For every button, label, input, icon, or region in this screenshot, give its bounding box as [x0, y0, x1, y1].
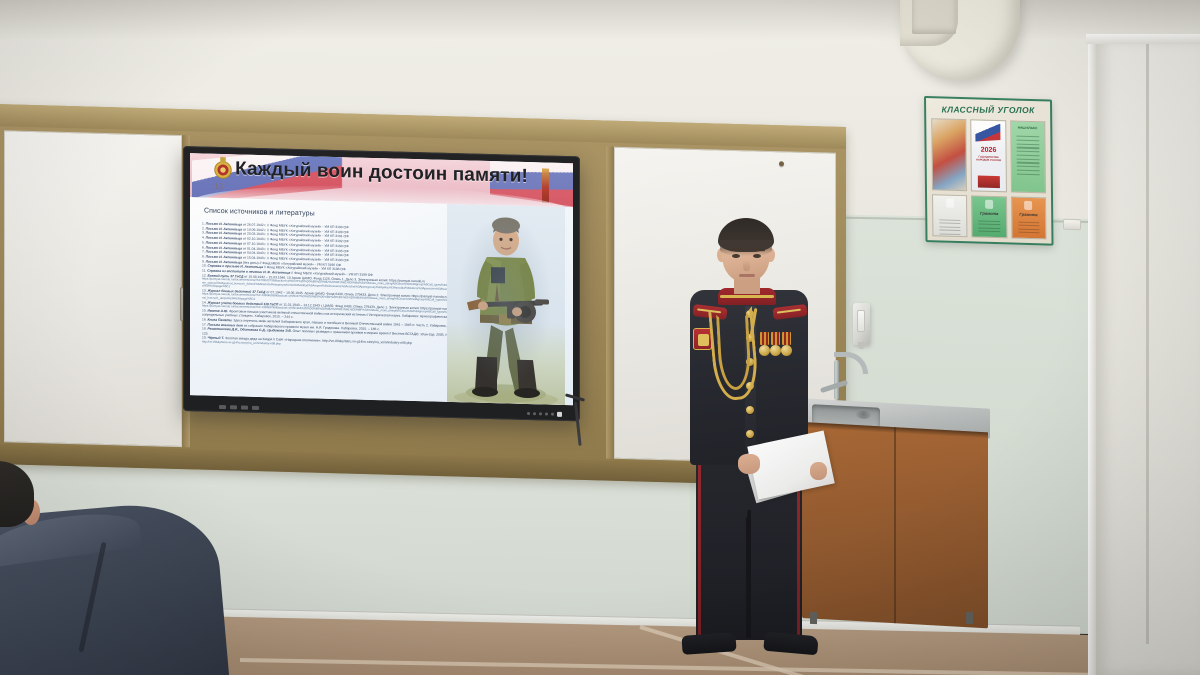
ceiling-shadow — [0, 0, 1200, 40]
poster-base-graphic — [978, 176, 999, 189]
classroom-scene: 13 Каждый воин достоин памяти! Список ис… — [0, 0, 1200, 675]
presenter-shoe — [681, 632, 736, 655]
seal-icon — [985, 200, 993, 209]
medal-cluster — [760, 332, 794, 366]
display-button[interactable] — [241, 406, 248, 410]
door-header — [1086, 34, 1200, 44]
info-card-title: НАШ КЛАСС — [1011, 125, 1044, 130]
corner-board-title: КЛАССНЫЙ УГОЛОК — [926, 104, 1050, 115]
presentation-slide: 13 Каждый воин достоин памяти! Список ис… — [190, 153, 573, 405]
certificate-title: Грамота — [1012, 211, 1045, 217]
display-button[interactable] — [230, 405, 237, 409]
display-button[interactable] — [219, 405, 226, 409]
corner-board-artwork[interactable] — [931, 118, 967, 191]
classroom-corner-board[interactable]: КЛАССНЫЙ УГОЛОК 2026 ГОД ЕДИНСТВА НАРОДО… — [924, 96, 1054, 246]
corner-board-info-card[interactable]: НАШ КЛАСС — [1010, 120, 1046, 193]
trouser-stripe — [698, 460, 701, 636]
soldier-illustration — [447, 204, 565, 405]
illustration-shadow — [455, 222, 555, 395]
cadet-presenter — [660, 210, 840, 675]
sink-drain — [856, 409, 871, 420]
display-indicator — [551, 413, 554, 416]
display-screen[interactable]: 13 Каждый воин достоин памяти! Список ис… — [190, 153, 573, 405]
medal-disc — [781, 345, 792, 356]
flag-graphic-icon — [976, 124, 1001, 142]
ceiling-mount-box — [912, 0, 956, 34]
display-indicator-cluster — [527, 411, 562, 417]
certificate-lines — [939, 219, 961, 237]
whiteboard-panel-left[interactable] — [4, 130, 182, 447]
panel-track-right — [606, 147, 614, 459]
dispenser-window — [857, 310, 865, 332]
tunic-button — [746, 406, 754, 414]
display-indicator — [539, 412, 542, 415]
display-button[interactable] — [252, 406, 259, 410]
medal-ribbon — [782, 332, 791, 345]
poster-subtitle: ГОД ЕДИНСТВА НАРОДОВ РОССИИ — [974, 155, 1003, 163]
display-indicator — [545, 412, 548, 415]
poster-year: 2026 — [972, 146, 1005, 154]
patch-emblem-icon — [698, 334, 709, 346]
presenter-hand-left — [738, 454, 760, 474]
corner-board-certificate-green[interactable]: Грамота — [971, 195, 1007, 238]
power-led-icon — [557, 412, 562, 417]
seal-icon — [1024, 201, 1032, 210]
slide-number: 13 — [214, 182, 223, 191]
collar-trim — [720, 295, 774, 298]
presenter-shoe — [763, 632, 818, 656]
door-jamb — [1088, 40, 1096, 675]
presenter-mouth — [739, 274, 755, 277]
doorway[interactable] — [1088, 40, 1200, 675]
presenter-eye — [753, 254, 761, 258]
seated-attendee — [0, 455, 290, 675]
references-list: 1. Письмо И. Аксентьца от 26.07.1942 г. … — [202, 221, 474, 351]
medal-disc — [770, 345, 781, 356]
corner-board-year-poster[interactable]: 2026 ГОД ЕДИНСТВА НАРОДОВ РОССИИ — [971, 119, 1007, 192]
corner-board-grid: 2026 ГОД ЕДИНСТВА НАРОДОВ РОССИИ НАШ КЛА… — [931, 118, 1046, 239]
tunic-button — [746, 430, 754, 438]
references-heading: Список источников и литературы — [204, 208, 315, 218]
corner-board-certificate-orange[interactable]: Грамота — [1011, 196, 1047, 239]
medal-disc — [759, 345, 770, 356]
cabinet-door-split — [894, 427, 896, 623]
display-indicator — [527, 412, 530, 415]
cabinet-leg — [966, 612, 973, 624]
presenter-nose — [743, 260, 750, 271]
certificate-title: Грамота — [973, 210, 1006, 216]
trouser-split — [746, 510, 751, 638]
board-pin — [779, 161, 784, 166]
display-indicator — [533, 412, 536, 415]
display-control-buttons[interactable] — [219, 405, 259, 410]
soap-dispenser[interactable] — [853, 303, 870, 345]
presenter-eye — [732, 254, 740, 258]
door-inner-edge — [1146, 44, 1149, 644]
medal-ribbon — [771, 332, 780, 345]
certificate-lines — [979, 221, 1000, 235]
attendee-head — [0, 461, 34, 527]
info-card-lines — [1016, 136, 1040, 178]
certificate-lines — [1018, 222, 1039, 236]
seal-icon — [946, 199, 954, 208]
dispenser-nozzle[interactable] — [858, 342, 865, 349]
interactive-display[interactable]: 13 Каждый воин достоин памяти! Список ис… — [183, 146, 580, 421]
slide-body: Список источников и литературы 1. Письмо… — [190, 197, 573, 405]
corner-board-certificate-grey[interactable] — [932, 194, 968, 237]
light-switch[interactable] — [1063, 219, 1081, 231]
medal-ribbon — [760, 332, 769, 345]
presenter-hand-right — [810, 462, 827, 480]
